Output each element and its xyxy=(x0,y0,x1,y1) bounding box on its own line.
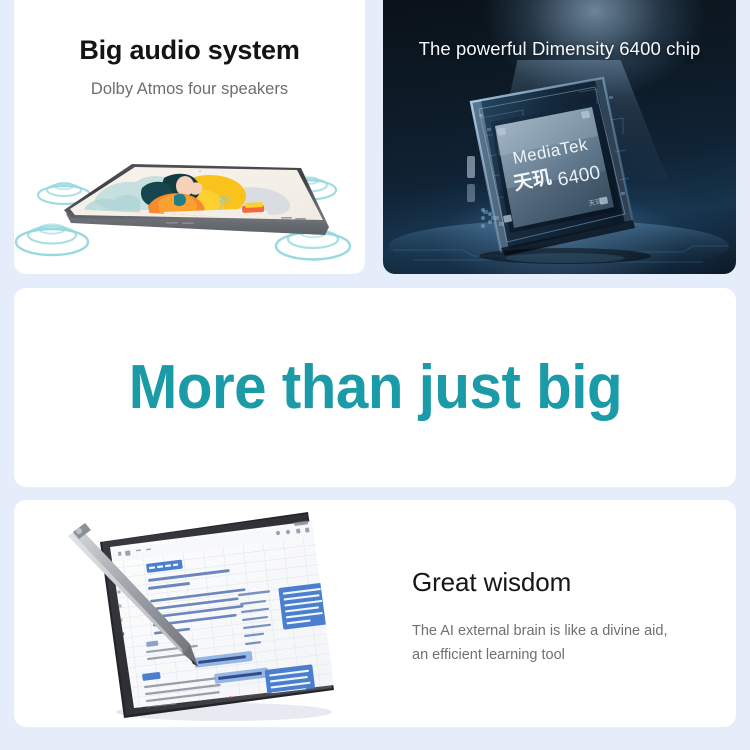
audio-panel-subtitle: Dolby Atmos four speakers xyxy=(14,80,365,100)
wisdom-feature-panel: Great wisdom The AI external brain is li… xyxy=(14,500,736,727)
product-feature-page: Big audio system Dolby Atmos four speake… xyxy=(0,0,750,750)
wisdom-panel-subtitle: The AI external brain is like a divine a… xyxy=(412,620,722,668)
chip-panel-title: The powerful Dimensity 6400 chip xyxy=(383,38,736,60)
wisdom-subtitle-line-2: an efficient learning tool xyxy=(412,644,722,668)
audio-panel-header: Big audio system Dolby Atmos four speake… xyxy=(14,0,365,99)
audio-feature-panel: Big audio system Dolby Atmos four speake… xyxy=(14,0,365,274)
mediatek-chip-photo: MediaTek 天玑 6400 天玑 xyxy=(383,60,736,274)
chip-feature-panel: The powerful Dimensity 6400 chip xyxy=(383,0,736,274)
audio-panel-title: Big audio system xyxy=(14,36,365,66)
headline-banner-panel: More than just big xyxy=(14,288,736,487)
wisdom-text-block: Great wisdom The AI external brain is li… xyxy=(412,568,722,668)
tablet-with-sound-ripples-illustration xyxy=(14,122,365,274)
wisdom-panel-title: Great wisdom xyxy=(412,568,722,598)
tablet-with-stylus-notes-illustration xyxy=(62,506,392,722)
headline-text: More than just big xyxy=(128,357,621,419)
wisdom-subtitle-line-1: The AI external brain is like a divine a… xyxy=(412,620,722,644)
